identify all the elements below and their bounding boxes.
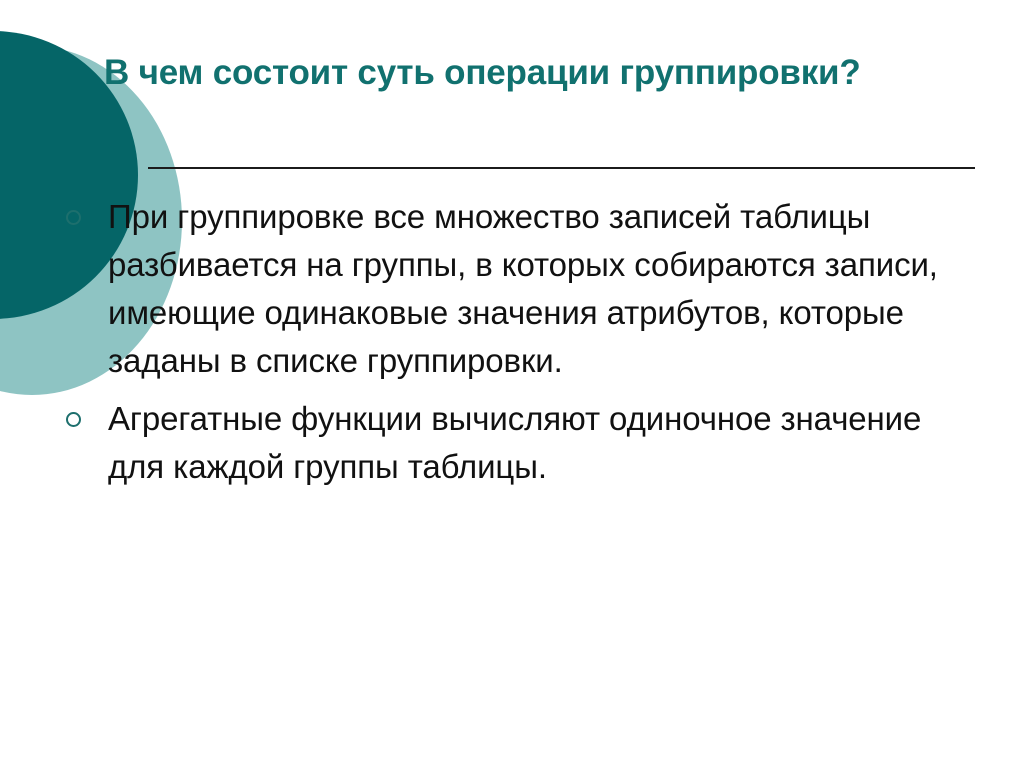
slide-title-block: В чем состоит суть операции группировки?	[104, 50, 984, 95]
presentation-slide: В чем состоит суть операции группировки?…	[0, 0, 1024, 767]
hollow-circle-bullet-icon	[66, 210, 81, 225]
page-title: В чем состоит суть операции группировки?	[104, 50, 984, 95]
slide-body: При группировке все множество записей та…	[58, 193, 958, 491]
list-item-text: При группировке все множество записей та…	[108, 193, 958, 385]
list-item-text: Агрегатные функции вычисляют одиночное з…	[108, 395, 958, 491]
hollow-circle-bullet-icon	[66, 412, 81, 427]
list-item: Агрегатные функции вычисляют одиночное з…	[58, 395, 958, 491]
title-divider	[148, 167, 975, 169]
list-item: При группировке все множество записей та…	[58, 193, 958, 385]
